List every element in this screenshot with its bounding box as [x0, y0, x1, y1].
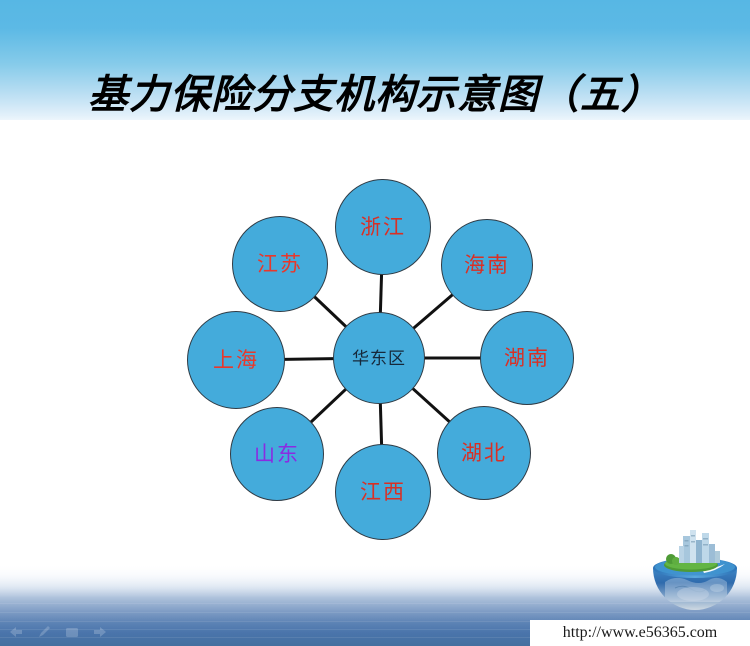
pen-icon[interactable]: [36, 625, 52, 639]
branch-node-label: 江西: [360, 482, 406, 503]
menu-icon[interactable]: [64, 625, 80, 639]
branch-node-4: 江西: [335, 444, 431, 540]
hub-node-label: 华东区: [352, 350, 406, 367]
branch-node-7: 江苏: [232, 216, 328, 312]
branch-node-label: 江苏: [257, 254, 303, 275]
connector-line-3: [412, 388, 450, 422]
connector-line-5: [310, 389, 346, 423]
branch-node-2: 湖南: [480, 311, 574, 405]
branch-node-label: 浙江: [360, 217, 406, 238]
previous-slide-icon[interactable]: [8, 625, 24, 639]
connector-line-1: [413, 294, 453, 328]
branch-node-label: 湖北: [461, 443, 507, 464]
connector-line-6: [284, 359, 334, 360]
branch-node-label: 山东: [254, 444, 300, 465]
hub-node-huadong: 华东区: [333, 312, 425, 404]
branch-node-0: 浙江: [335, 179, 431, 275]
branch-node-1: 海南: [441, 219, 533, 311]
earth-city-globe-icon: [645, 524, 745, 616]
slideshow-navigation-bar[interactable]: [8, 622, 118, 642]
watermark-url: http://www.e56365.com: [530, 620, 750, 646]
connector-line-7: [314, 296, 346, 327]
branch-node-label: 上海: [213, 350, 259, 371]
connector-line-4: [380, 403, 381, 445]
branch-node-3: 湖北: [437, 406, 531, 500]
branch-node-label: 湖南: [504, 348, 550, 369]
branch-node-5: 山东: [230, 407, 324, 501]
branch-node-label: 海南: [464, 255, 510, 276]
next-slide-icon[interactable]: [92, 625, 108, 639]
presentation-slide: 基力保险分支机构示意图（五） 浙江海南湖南湖北江西山东上海江苏华东区: [0, 0, 750, 646]
branch-node-6: 上海: [187, 311, 285, 409]
connector-line-0: [380, 274, 381, 313]
